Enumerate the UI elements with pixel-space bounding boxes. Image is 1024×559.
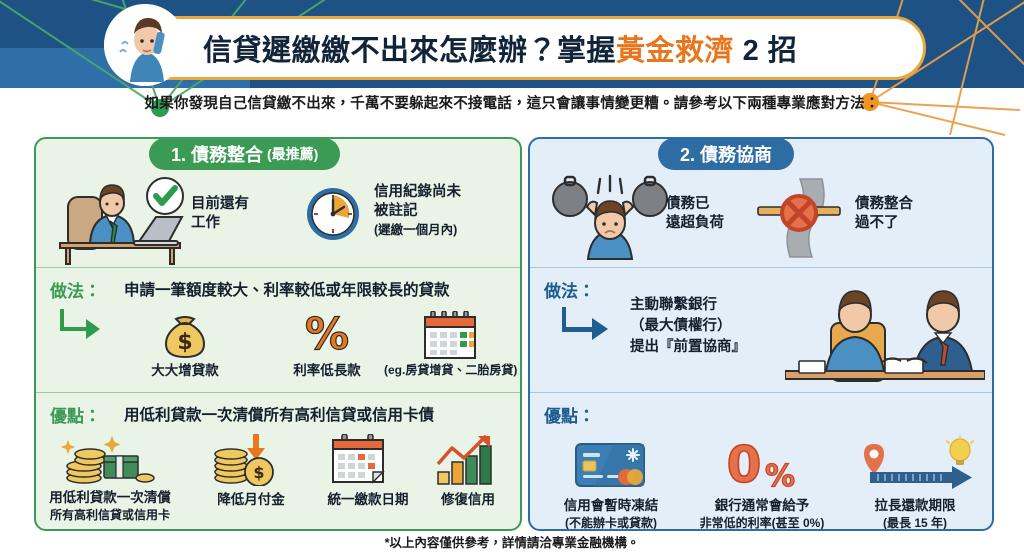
person-lifting-heavy-weights-icon bbox=[552, 173, 670, 268]
page-title-pill: 信貸遲繳繳不出來怎麼辦？掌握黃金救濟 2 招 bbox=[108, 16, 926, 80]
calendar-icon bbox=[330, 434, 388, 491]
method-item-caption-2: 利率低長款 bbox=[283, 363, 371, 380]
percent-icon: % bbox=[304, 309, 350, 362]
timeline-extend-icon bbox=[860, 436, 976, 495]
title-number: 2 bbox=[734, 35, 768, 67]
worried-person-on-phone-icon bbox=[104, 4, 186, 86]
method-row-left: 做法： 申請一筆額度較大、利率較低或年限較長的貸款 $ 大大增貸款 % 利率低長… bbox=[36, 267, 520, 392]
benefit-item-caption-r3: 拉長還款期限 (最長 15 年) bbox=[848, 498, 982, 531]
method-text-right: 主動聯繫銀行 （最大債權行） 提出『前置協商』 bbox=[630, 295, 746, 358]
tab-title-1: 1. 債務整合 bbox=[171, 141, 263, 167]
method-row-right: 做法： 主動聯繫銀行 （最大債權行） 提出『前置協商』 bbox=[530, 267, 992, 392]
benefit-item-caption-1: 用低利貸款一次清償 所有高利信貸或信用卡 bbox=[40, 490, 180, 524]
method-text-left: 申請一筆額度較大、利率較低或年限較長的貸款 bbox=[124, 278, 450, 300]
zero-percent-icon: 0 % bbox=[718, 436, 804, 495]
footer-disclaimer: *以上內容僅供參考，詳情請洽專業金融機構。 bbox=[0, 532, 1024, 551]
subtitle-text: 如果你發現自己信貸繳不出來，千萬不要躲起來不接電話，這只會讓事情變更糟。請參考以… bbox=[0, 92, 1024, 113]
benefit-text-left: 用低利貸款一次清償所有高利信貸或信用卡債 bbox=[124, 403, 434, 425]
benefit-label-left: 優點： bbox=[50, 402, 101, 427]
green-elbow-arrow-icon bbox=[58, 307, 102, 348]
tab-debt-negotiation[interactable]: 2. 債務協商 bbox=[658, 138, 794, 170]
benefit-row-left: 優點： 用低利貸款一次清償所有高利信貸或信用卡債 用低利 bbox=[36, 392, 520, 527]
method-item-caption-3: (eg.房貸增貸、二胎房貸) bbox=[384, 363, 514, 378]
tab-debt-consolidation[interactable]: 1. 債務整合 (最推薦) bbox=[149, 138, 340, 170]
svg-text:%: % bbox=[765, 459, 795, 490]
svg-text:$: $ bbox=[253, 463, 264, 482]
coins-down-arrow-icon: $ bbox=[209, 432, 281, 491]
blocked-road-icon bbox=[752, 177, 846, 264]
benefit-label-right: 優點： bbox=[544, 402, 595, 427]
svg-text:0: 0 bbox=[727, 436, 762, 490]
clock-icon bbox=[304, 185, 362, 248]
coins-and-cash-icon bbox=[60, 434, 156, 489]
conditions-row-left: 目前還有 工作 信用紀錄尚未 被註記 ( bbox=[36, 169, 520, 264]
page-title: 信貸遲繳繳不出來怎麼辦？掌握黃金救濟 2 招 bbox=[203, 27, 797, 69]
benefit-item-caption-2: 降低月付金 bbox=[196, 492, 306, 509]
frozen-credit-card-icon bbox=[574, 440, 646, 493]
method-label-right: 做法： bbox=[544, 277, 595, 302]
benefit-item-caption-r1: 信用會暫時凍結 (不能辦卡或貸款) bbox=[544, 498, 678, 531]
benefit-item-caption-4: 修復信用 bbox=[418, 492, 518, 509]
benefit-row-right: 優點： 信用會暫時凍結 (不能辦卡或貸款) bbox=[530, 392, 992, 527]
method-label-left: 做法： bbox=[50, 277, 101, 302]
growth-bar-chart-icon bbox=[434, 434, 498, 491]
svg-text:%: % bbox=[305, 309, 349, 357]
calendar-icon bbox=[421, 311, 483, 366]
blue-elbow-arrow-icon bbox=[560, 305, 610, 350]
title-part1: 信貸遲繳繳不出來怎麼辦？掌握 bbox=[203, 35, 616, 67]
svg-text:$: $ bbox=[177, 330, 192, 355]
title-part2: 招 bbox=[768, 35, 798, 67]
money-bag-icon: $ bbox=[158, 307, 212, 364]
method-item-caption-1: 大大增貸款 bbox=[141, 363, 229, 380]
tab-title-2: 2. 債務協商 bbox=[680, 141, 772, 167]
benefit-item-caption-r2: 銀行通常會給予 非常低的利率(甚至 0%) bbox=[678, 498, 846, 531]
condition-label-r2: 債務整合 過不了 bbox=[855, 195, 913, 233]
green-check-icon bbox=[144, 175, 186, 222]
condition-label-r1: 債務已 遠超負荷 bbox=[666, 195, 724, 233]
two-people-negotiating-at-desk-icon bbox=[785, 271, 985, 398]
benefit-item-caption-3: 統一繳款日期 bbox=[313, 492, 423, 509]
panel-debt-negotiation: 債務已 遠超負荷 債務整合 過不了 做法： 主動聯繫銀行 （最大債權行） bbox=[528, 137, 994, 531]
condition-label-2: 信用紀錄尚未 被註記 (遲繳一個月內) bbox=[374, 183, 461, 240]
panel-debt-consolidation: 目前還有 工作 信用紀錄尚未 被註記 ( bbox=[34, 137, 522, 531]
condition-label-1: 目前還有 工作 bbox=[191, 195, 249, 233]
title-highlight: 黃金救濟 bbox=[616, 35, 734, 67]
conditions-row-right: 債務已 遠超負荷 債務整合 過不了 bbox=[530, 169, 992, 264]
tab-sub-1: (最推薦) bbox=[267, 144, 318, 164]
